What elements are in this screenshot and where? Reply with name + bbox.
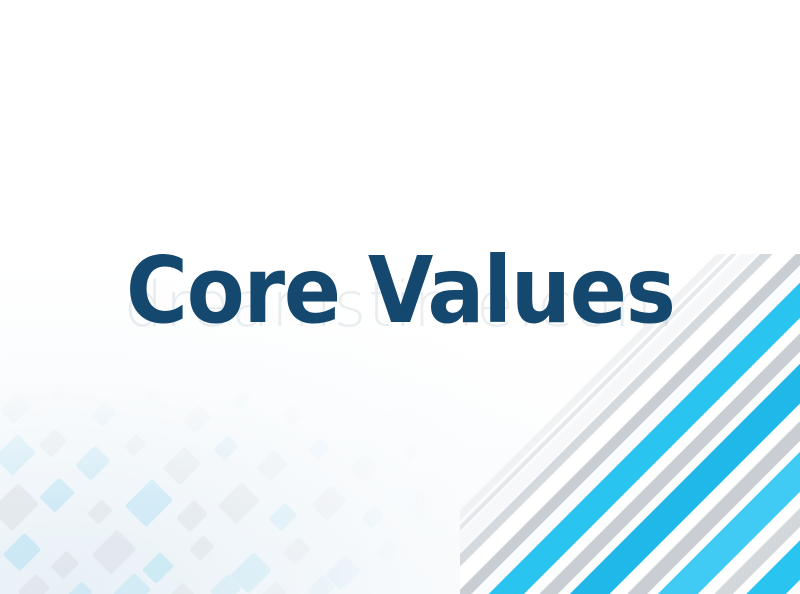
poster-canvas: dreamstime.com Core Values: [0, 0, 800, 594]
page-title: Core Values: [126, 245, 675, 337]
title-container: Core Values: [0, 0, 800, 594]
